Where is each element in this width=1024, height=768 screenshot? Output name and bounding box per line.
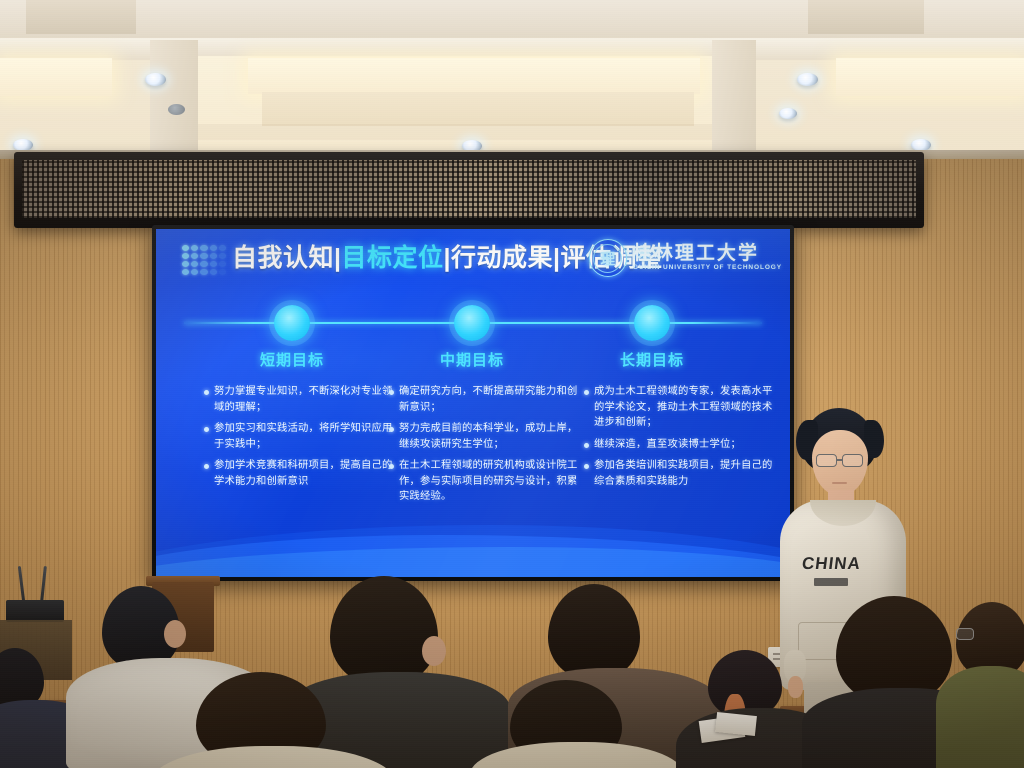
ceiling-cove-center	[248, 58, 700, 94]
downlight-icon	[797, 73, 818, 86]
cove-light-right	[836, 58, 1024, 96]
ceiling-shadow-band	[196, 124, 716, 140]
downlight-icon	[145, 73, 166, 86]
lecture-hall-photo: 自我认知|目标定位|行动成果|评估调整 理 桂林理工大学 GUILIN UNIV…	[0, 0, 1024, 768]
ceiling	[0, 0, 1024, 152]
photo-vignette	[0, 150, 1024, 768]
ceiling-pier-left	[150, 40, 198, 152]
ceiling-panel-inner	[262, 92, 694, 126]
ceiling-block-left	[26, 0, 136, 34]
smoke-detector-icon	[168, 104, 185, 115]
downlight-icon	[779, 108, 797, 119]
ceiling-block-right	[808, 0, 924, 34]
ceiling-pier-right	[712, 40, 756, 152]
cove-light-left	[0, 58, 112, 96]
